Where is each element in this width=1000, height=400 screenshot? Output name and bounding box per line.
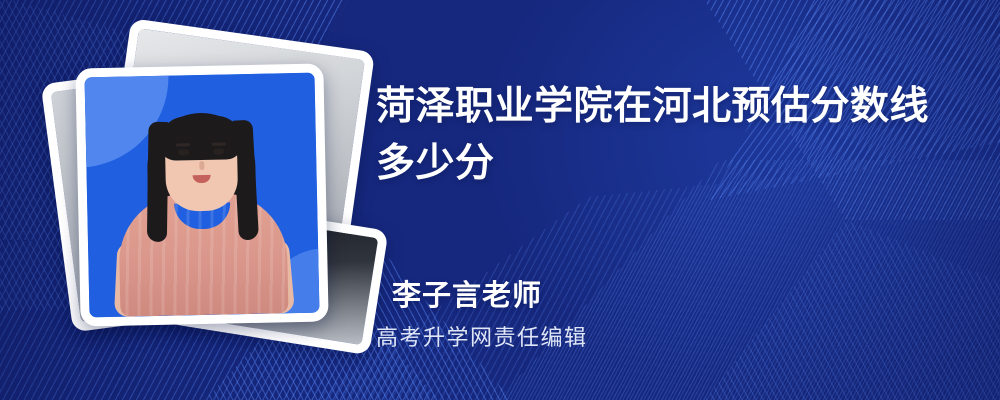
portrait-eyebrow-right xyxy=(212,142,226,145)
portrait-eyebrow-left xyxy=(176,143,190,146)
article-cover-banner: 菏泽职业学院在河北预估分数线多少分 李子言老师 高考升学网责任编辑 xyxy=(0,0,1000,400)
portrait-illustration xyxy=(85,73,320,318)
author-avatar xyxy=(75,63,328,326)
author-role: 高考升学网责任编辑 xyxy=(376,320,588,352)
photo-frame-stack xyxy=(52,38,372,338)
portrait-hair-front xyxy=(158,115,243,161)
portrait-nose xyxy=(199,161,204,170)
portrait-eye-right xyxy=(213,149,224,155)
page-title: 菏泽职业学院在河北预估分数线多少分 xyxy=(376,78,956,192)
banner-text-column: 菏泽职业学院在河北预估分数线多少分 李子言老师 高考升学网责任编辑 xyxy=(376,0,976,400)
avatar-photo-inner xyxy=(85,73,320,318)
author-name: 李子言老师 xyxy=(392,272,542,314)
portrait-eye-left xyxy=(178,150,189,156)
